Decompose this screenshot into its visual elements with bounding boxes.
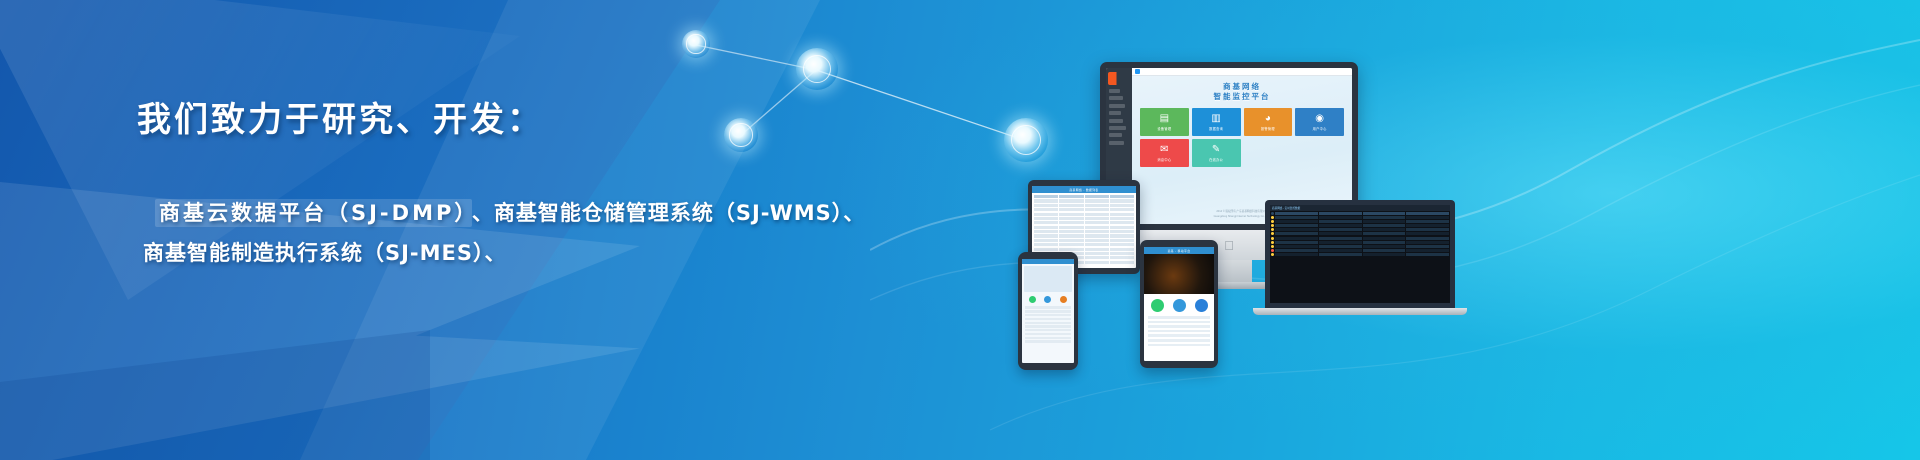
table-cell	[1363, 241, 1406, 244]
table-cell	[1085, 195, 1109, 198]
list-item	[1025, 325, 1071, 327]
sidebar-nav[interactable]	[1106, 89, 1132, 145]
product-line-2: 商基智能制造执行系统（SJ-MES）、	[143, 233, 957, 273]
phone-icon-row	[1022, 294, 1074, 305]
table-row	[1034, 199, 1134, 202]
tile-label: 消息中心	[1157, 157, 1171, 162]
sidebar-item-stats[interactable]	[1109, 126, 1126, 130]
table-cell	[1110, 256, 1134, 259]
list-item	[1025, 306, 1071, 308]
table-cell	[1110, 261, 1134, 264]
table-row	[1271, 224, 1449, 227]
table-cell	[1059, 195, 1083, 198]
mail-icon: ✉	[1160, 144, 1168, 155]
table-cell	[1034, 234, 1058, 237]
table-cell	[1406, 216, 1449, 219]
device-mockups: 商基网络 智能监控平台 ▤设备管理 ▥数据查询 ◕报警管理 ◉用户中心 ✉消息中…	[1010, 40, 1910, 370]
tile-label: 用户中心	[1313, 126, 1327, 131]
list-item	[1148, 316, 1210, 319]
sidebar-item-query[interactable]	[1109, 104, 1125, 108]
table-cell	[1059, 221, 1083, 224]
status-dot	[1271, 249, 1274, 252]
list-item	[1025, 337, 1071, 339]
table-cell	[1319, 216, 1362, 219]
tablet-portrait-titlebar: 商基 - 移动平台	[1144, 247, 1214, 254]
app-icon[interactable]	[1044, 296, 1051, 303]
table-cell	[1110, 243, 1134, 246]
table-cell	[1085, 226, 1109, 229]
list-item	[1148, 330, 1210, 333]
status-dot	[1271, 245, 1274, 248]
status-dot	[1271, 237, 1274, 240]
table-cell	[1034, 208, 1058, 211]
table-cell	[1406, 224, 1449, 227]
table-row	[1271, 228, 1449, 231]
table-cell	[1406, 245, 1449, 248]
list-item	[1148, 339, 1210, 342]
table-cell	[1034, 243, 1058, 246]
sidebar-item-users[interactable]	[1109, 119, 1123, 123]
table-cell	[1275, 253, 1318, 256]
table-cell	[1034, 248, 1058, 251]
table-cell	[1059, 226, 1083, 229]
phone-mockup	[1018, 252, 1078, 370]
banner-copy: 我们致力于研究、开发： 商基云数据平台（SJ-DMP）、商基智能仓储管理系统（S…	[137, 92, 957, 273]
table-row	[1271, 216, 1449, 219]
brand-logo-icon	[1108, 72, 1130, 85]
table-row	[1271, 237, 1449, 240]
table-cell	[1406, 212, 1449, 215]
table-cell	[1406, 253, 1449, 256]
table-cell	[1275, 228, 1318, 231]
phone-list	[1022, 306, 1074, 342]
sidebar-item-home[interactable]	[1109, 89, 1120, 93]
table-cell	[1110, 252, 1134, 255]
table-cell	[1034, 213, 1058, 216]
table-row	[1034, 239, 1134, 242]
status-dot	[1271, 224, 1274, 227]
table-cell	[1110, 221, 1134, 224]
table-row	[1271, 232, 1449, 235]
table-cell	[1275, 245, 1318, 248]
table-cell	[1406, 241, 1449, 244]
laptop-base	[1253, 308, 1467, 315]
table-cell	[1110, 239, 1134, 242]
table-row	[1034, 221, 1134, 224]
table-cell	[1059, 217, 1083, 220]
list-item	[1025, 340, 1071, 342]
list-item	[1025, 314, 1071, 316]
phone-hero-block	[1024, 266, 1072, 292]
table-cell	[1085, 213, 1109, 216]
table-cell	[1110, 217, 1134, 220]
dashboard-tile[interactable]: ▥数据查询	[1192, 108, 1241, 136]
table-cell	[1363, 237, 1406, 240]
table-cell	[1275, 249, 1318, 252]
tablet-portrait-screen: 商基 - 移动平台	[1144, 247, 1214, 361]
page-title: 我们致力于研究、开发：	[137, 92, 957, 141]
table-cell	[1110, 213, 1134, 216]
table-cell	[1059, 239, 1083, 242]
table-cell	[1110, 230, 1134, 233]
table-cell	[1406, 232, 1449, 235]
table-row	[1271, 220, 1449, 223]
product-line-1-highlight: 商基云数据平台（SJ-DMP）	[155, 199, 472, 227]
dashboard-tile[interactable]: ◉用户中心	[1295, 108, 1344, 136]
table-row	[1034, 248, 1134, 251]
table-cell	[1059, 208, 1083, 211]
sidebar-item-basedata[interactable]	[1109, 141, 1124, 145]
table-cell	[1085, 217, 1109, 220]
list-item	[1148, 325, 1210, 328]
table-cell	[1110, 248, 1134, 251]
table-cell	[1275, 237, 1318, 240]
table-cell	[1059, 204, 1083, 207]
banner-stage: 我们致力于研究、开发： 商基云数据平台（SJ-DMP）、商基智能仓储管理系统（S…	[0, 0, 1920, 460]
tile-label: 数据查询	[1209, 126, 1223, 131]
table-cell	[1363, 249, 1406, 252]
tablet-titlebar: 商基网络 - 数据列表	[1032, 186, 1136, 193]
table-cell	[1110, 226, 1134, 229]
table-cell	[1059, 234, 1083, 237]
table-cell	[1034, 204, 1058, 207]
tile-label: 报警管理	[1261, 126, 1275, 131]
table-cell	[1085, 230, 1109, 233]
table-header-row	[1271, 212, 1449, 215]
table-row	[1034, 217, 1134, 220]
table-cell	[1406, 228, 1449, 231]
dashboard-topbar[interactable]	[1132, 68, 1352, 76]
table-cell	[1085, 234, 1109, 237]
table-cell	[1363, 216, 1406, 219]
table-cell	[1085, 261, 1109, 264]
list-item	[1148, 334, 1210, 337]
status-dot	[1271, 232, 1274, 235]
phone-screen	[1022, 259, 1074, 363]
hero-image	[1144, 254, 1214, 294]
status-dot	[1271, 220, 1274, 223]
table-cell	[1275, 224, 1318, 227]
dashboard-tile[interactable]: ◕报警管理	[1244, 108, 1293, 136]
table-row	[1271, 253, 1449, 256]
table-cell	[1034, 230, 1058, 233]
dashboard-tile[interactable]: ✉消息中心	[1140, 139, 1189, 167]
product-line-1: 商基云数据平台（SJ-DMP）、商基智能仓储管理系统（SJ-WMS）、	[155, 193, 957, 233]
app-icon[interactable]	[1029, 296, 1036, 303]
dashboard-tile[interactable]: ✎在线办公	[1192, 139, 1241, 167]
table-row	[1034, 208, 1134, 211]
edit-icon: ✎	[1212, 144, 1220, 155]
laptop-data-table	[1270, 211, 1450, 258]
table-cell	[1363, 220, 1406, 223]
table-cell	[1319, 249, 1362, 252]
table-cell	[1363, 228, 1406, 231]
table-cell	[1110, 195, 1134, 198]
table-row	[1271, 245, 1449, 248]
app-icon[interactable]	[1060, 296, 1067, 303]
product-line-2-rest: 商基智能制造执行系统（SJ-MES）、	[143, 241, 507, 265]
list-item	[1148, 321, 1210, 324]
status-dot	[1271, 216, 1274, 219]
table-cell	[1319, 232, 1362, 235]
table-cell	[1363, 245, 1406, 248]
phone-titlebar	[1022, 259, 1074, 264]
table-cell	[1275, 232, 1318, 235]
status-dot	[1271, 228, 1274, 231]
status-dot	[1271, 212, 1274, 215]
dashboard-title-line2: 智能监控平台	[1132, 92, 1352, 102]
table-cell	[1406, 220, 1449, 223]
tile-label: 在线办公	[1209, 157, 1223, 162]
app-icon-row	[1144, 294, 1214, 314]
list-item	[1025, 318, 1071, 320]
sidebar-item-settings[interactable]	[1109, 133, 1122, 137]
list-item	[1025, 333, 1071, 335]
table-cell	[1319, 241, 1362, 244]
table-cell	[1034, 239, 1058, 242]
table-cell	[1085, 252, 1109, 255]
network-node	[682, 30, 710, 58]
clock-icon: ◕	[1265, 113, 1271, 124]
tile-label: 设备管理	[1157, 126, 1171, 131]
table-cell	[1406, 237, 1449, 240]
table-cell	[1275, 216, 1318, 219]
table-cell	[1319, 224, 1362, 227]
dashboard-title: 商基网络 智能监控平台	[1132, 76, 1352, 102]
table-cell	[1059, 213, 1083, 216]
table-cell	[1034, 221, 1058, 224]
tablet-portrait-list	[1144, 316, 1214, 346]
table-cell	[1034, 195, 1058, 198]
table-cell	[1034, 217, 1058, 220]
table-cell	[1363, 212, 1406, 215]
status-dot	[1271, 241, 1274, 244]
dashboard-tiles: ▤设备管理 ▥数据查询 ◕报警管理 ◉用户中心 ✉消息中心 ✎在线办公	[1132, 102, 1352, 167]
table-row	[1271, 241, 1449, 244]
table-cell	[1319, 245, 1362, 248]
table-row	[1034, 213, 1134, 216]
table-row	[1271, 249, 1449, 252]
app-icon[interactable]	[1173, 299, 1186, 312]
table-row	[1034, 204, 1134, 207]
table-row	[1034, 234, 1134, 237]
table-cell	[1319, 237, 1362, 240]
table-cell	[1034, 199, 1058, 202]
table-cell	[1275, 220, 1318, 223]
table-cell	[1406, 249, 1449, 252]
list-item	[1025, 310, 1071, 312]
product-list: 商基云数据平台（SJ-DMP）、商基智能仓储管理系统（SJ-WMS）、 商基智能…	[137, 193, 957, 273]
tablet-portrait-mockup: 商基 - 移动平台	[1140, 240, 1218, 368]
table-cell	[1363, 224, 1406, 227]
table-cell	[1059, 243, 1083, 246]
table-cell	[1085, 239, 1109, 242]
network-node	[796, 48, 838, 90]
monitor-icon: ▤	[1160, 113, 1169, 124]
table-cell	[1085, 256, 1109, 259]
table-cell	[1319, 228, 1362, 231]
list-item	[1025, 329, 1071, 331]
chart-icon: ▥	[1211, 113, 1220, 124]
table-cell	[1085, 204, 1109, 207]
table-row	[1034, 243, 1134, 246]
laptop-screen: 商基网络 - 实时监控数据	[1265, 200, 1455, 308]
status-dot	[1271, 253, 1274, 256]
table-row	[1034, 230, 1134, 233]
table-cell	[1059, 199, 1083, 202]
table-cell	[1275, 241, 1318, 244]
user-icon: ◉	[1315, 113, 1324, 124]
sidebar-item-alarms[interactable]	[1109, 111, 1121, 115]
table-cell	[1110, 208, 1134, 211]
table-cell	[1059, 230, 1083, 233]
table-cell	[1319, 220, 1362, 223]
laptop-mockup: 商基网络 - 实时监控数据	[1265, 200, 1455, 315]
table-cell	[1110, 204, 1134, 207]
list-item	[1148, 344, 1210, 347]
table-cell	[1319, 212, 1362, 215]
table-cell	[1110, 234, 1134, 237]
dashboard-tile[interactable]: ▤设备管理	[1140, 108, 1189, 136]
table-cell	[1085, 248, 1109, 251]
app-icon[interactable]	[1151, 299, 1164, 312]
table-row	[1034, 226, 1134, 229]
table-cell	[1363, 232, 1406, 235]
sidebar-item-devices[interactable]	[1109, 96, 1123, 100]
table-cell	[1110, 199, 1134, 202]
table-cell	[1085, 243, 1109, 246]
list-item	[1025, 322, 1071, 324]
app-icon[interactable]	[1195, 299, 1208, 312]
table-cell	[1085, 199, 1109, 202]
laptop-app: 商基网络 - 实时监控数据	[1270, 205, 1450, 303]
apple-logo-icon: 	[1224, 239, 1234, 252]
table-cell	[1085, 208, 1109, 211]
table-cell	[1059, 248, 1083, 251]
product-line-1-rest: 、商基智能仓储管理系统（SJ-WMS）、	[472, 201, 865, 225]
table-cell	[1363, 253, 1406, 256]
table-cell	[1085, 221, 1109, 224]
dashboard-title-line1: 商基网络	[1132, 82, 1352, 92]
table-row	[1034, 195, 1134, 198]
menu-icon[interactable]	[1135, 69, 1140, 74]
table-cell	[1275, 212, 1318, 215]
table-cell	[1034, 226, 1058, 229]
table-cell	[1319, 253, 1362, 256]
